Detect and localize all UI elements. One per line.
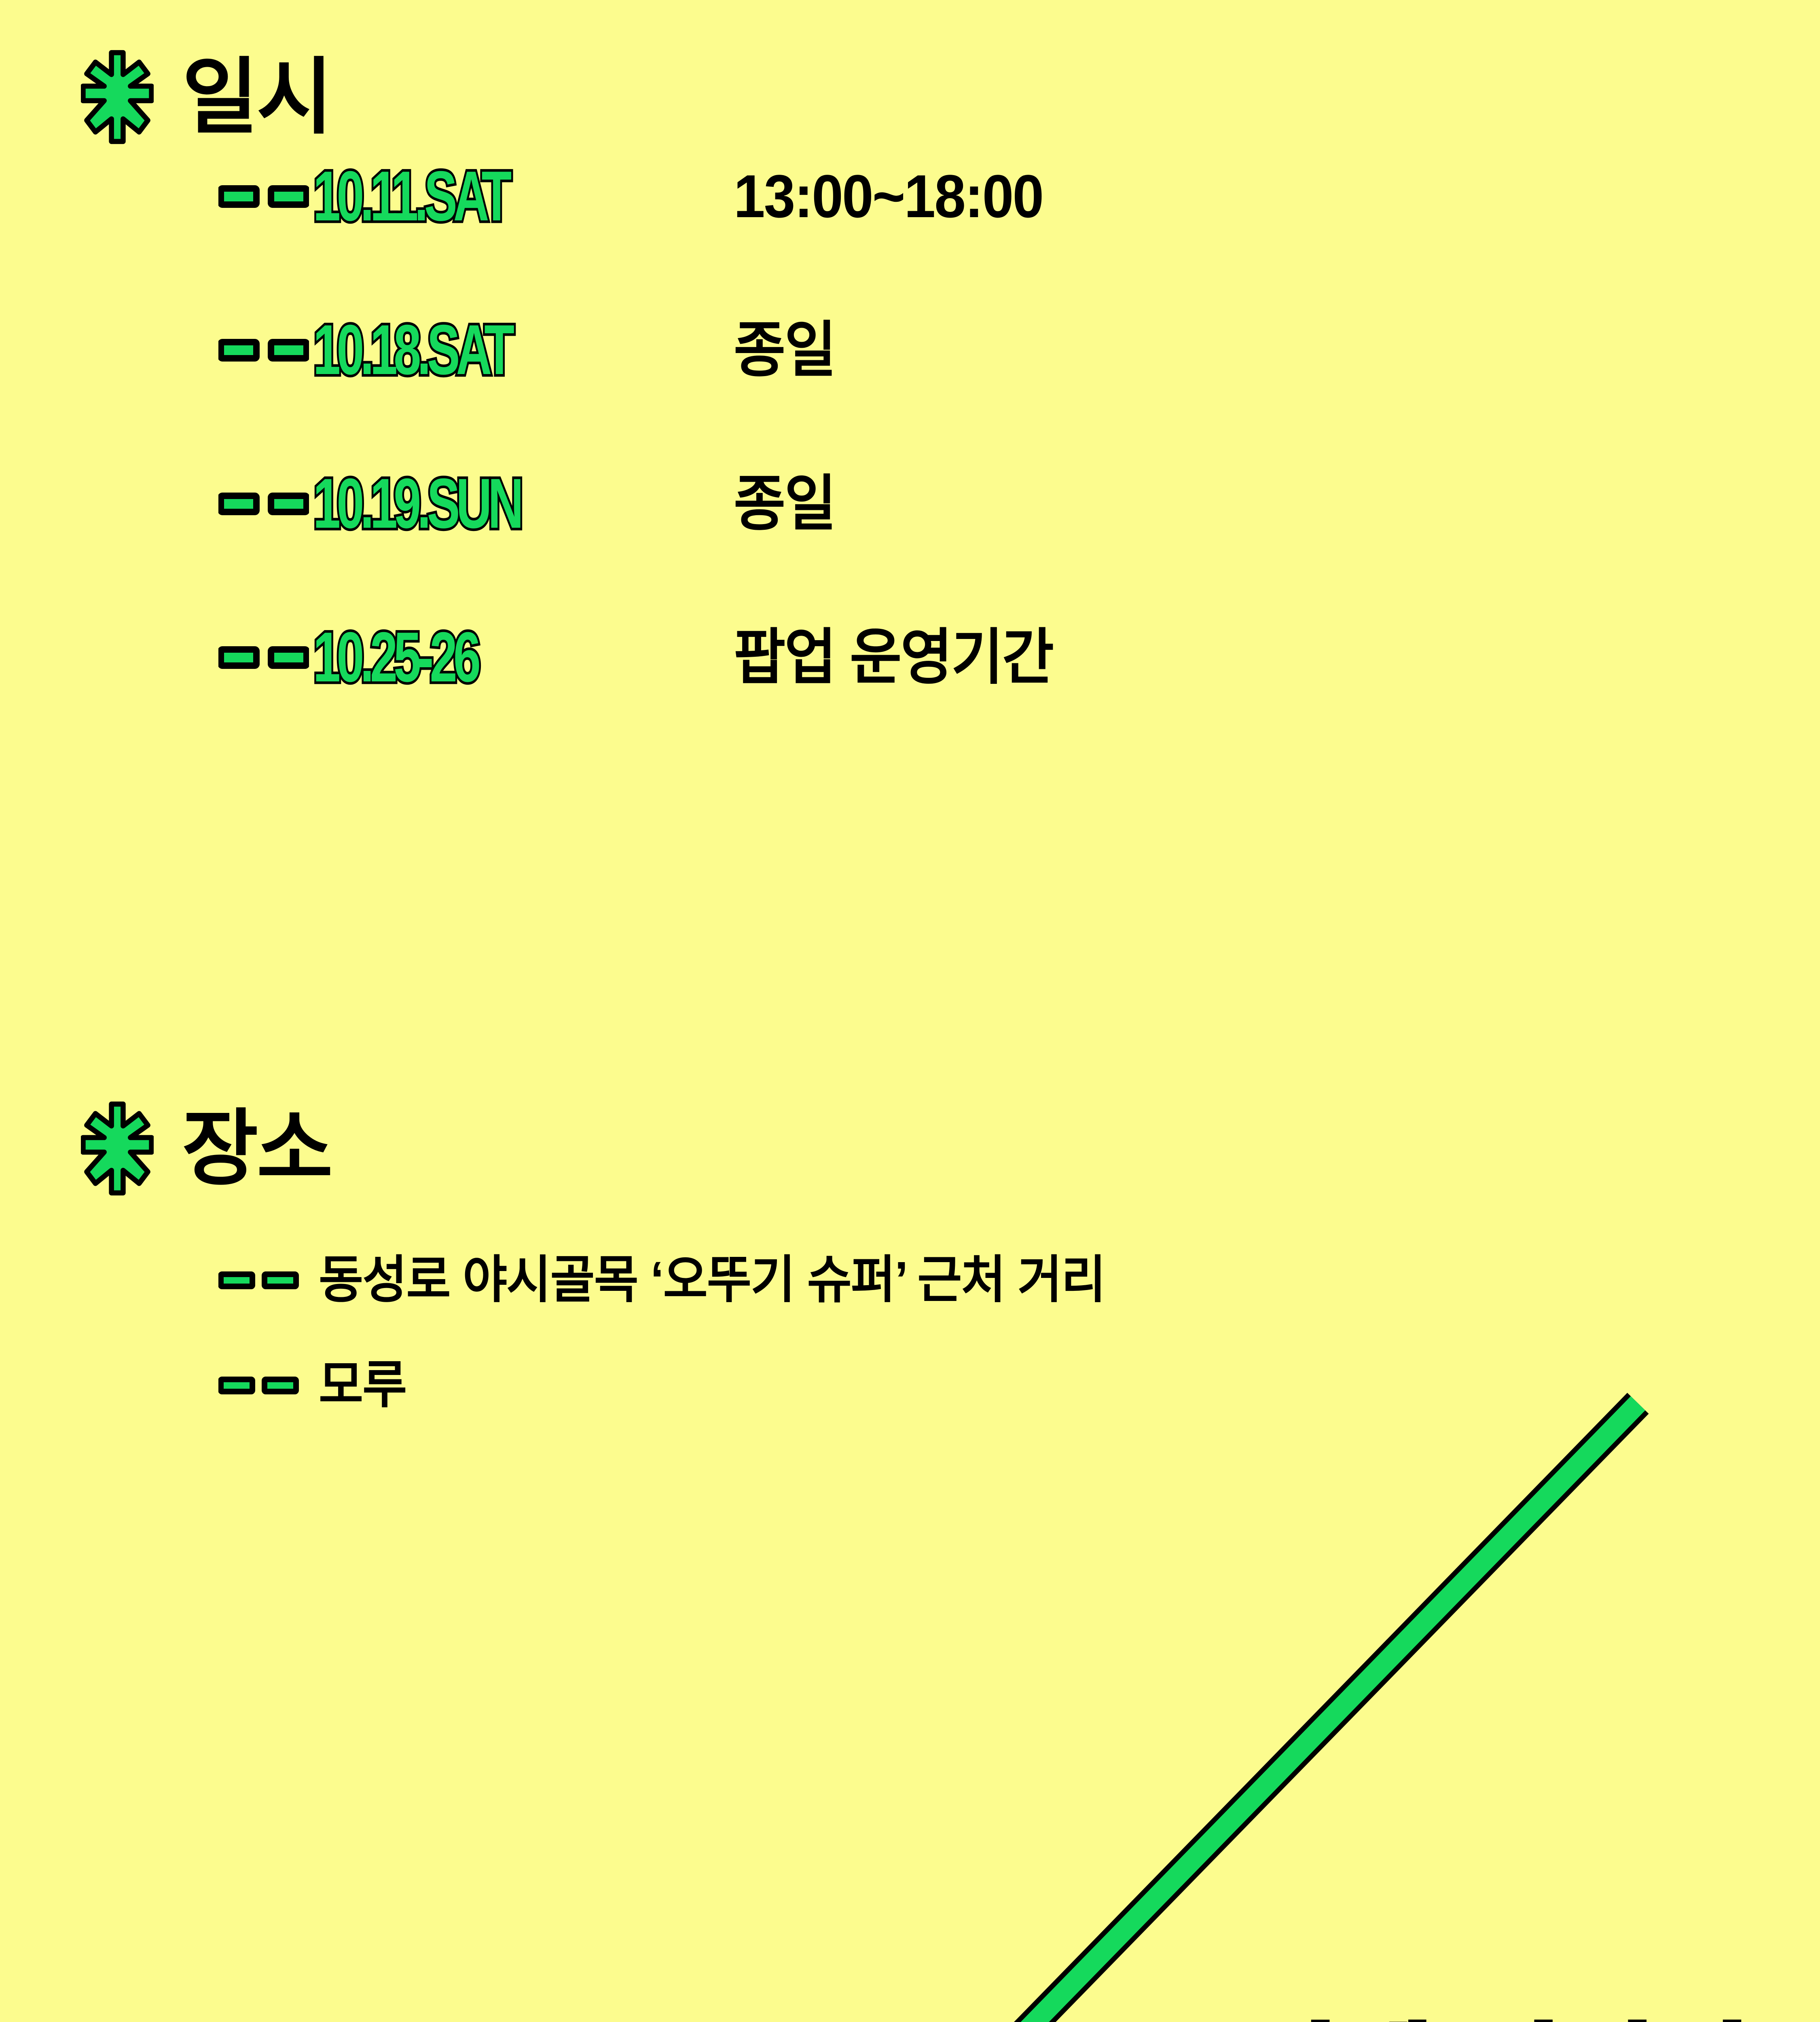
section-header-place: 장소 xyxy=(0,1088,1820,1209)
date-note: 팝업 운영기간 xyxy=(734,627,1053,687)
date-label: 10.25-26 xyxy=(313,622,607,693)
double-dash-bullet-icon xyxy=(218,174,309,218)
datetime-row-list: 10.11.SAT 13:00~18:00 10.18.SAT 종일 10.19… xyxy=(218,158,1796,772)
double-dash-bullet-icon xyxy=(218,635,309,679)
section-datetime: 일시 10.11.SAT 13:00~18:00 10.18.SAT 종일 xyxy=(0,36,1820,158)
place-text: 동성로 야시골목 ‘오뚜기 슈퍼’ 근처 거리 xyxy=(319,1254,1105,1305)
poster-canvas: 일시 10.11.SAT 13:00~18:00 10.18.SAT 종일 xyxy=(0,0,1820,2022)
date-note: 종일 xyxy=(734,319,835,380)
date-label: 10.19.SUN xyxy=(313,468,607,539)
date-row: 10.25-26 팝업 운영기간 xyxy=(218,619,1796,696)
double-dash-bullet-icon xyxy=(218,481,309,526)
double-dash-bullet-icon xyxy=(218,1264,299,1296)
double-dash-bullet-icon xyxy=(218,328,309,372)
place-text: 모루 xyxy=(319,1360,406,1411)
section-title-datetime: 일시 xyxy=(182,56,331,139)
date-note: 종일 xyxy=(734,473,835,534)
date-row: 10.18.SAT 종일 xyxy=(218,311,1796,388)
asterisk-icon xyxy=(81,49,154,146)
date-note: 13:00~18:00 xyxy=(734,166,1043,226)
diagonal-stripe-decoration xyxy=(829,1375,1670,2022)
section-title-place: 장소 xyxy=(182,1107,331,1190)
section-header-datetime: 일시 xyxy=(0,36,1820,158)
section-place: 장소 동성로 야시골목 ‘오뚜기 슈퍼’ 근처 거리 모루 xyxy=(0,1088,1820,1209)
asterisk-icon xyxy=(81,1100,154,1197)
date-label: 10.11.SAT xyxy=(313,161,607,232)
place-item: 모루 xyxy=(218,1355,1796,1415)
date-label: 10.18.SAT xyxy=(313,315,607,385)
place-item-list: 동성로 야시골목 ‘오뚜기 슈퍼’ 근처 거리 모루 xyxy=(218,1250,1796,1460)
double-dash-bullet-icon xyxy=(218,1369,299,1401)
date-row: 10.11.SAT 13:00~18:00 xyxy=(218,158,1796,235)
place-item: 동성로 야시골목 ‘오뚜기 슈퍼’ 근처 거리 xyxy=(218,1250,1796,1310)
date-row: 10.19.SUN 종일 xyxy=(218,465,1796,542)
